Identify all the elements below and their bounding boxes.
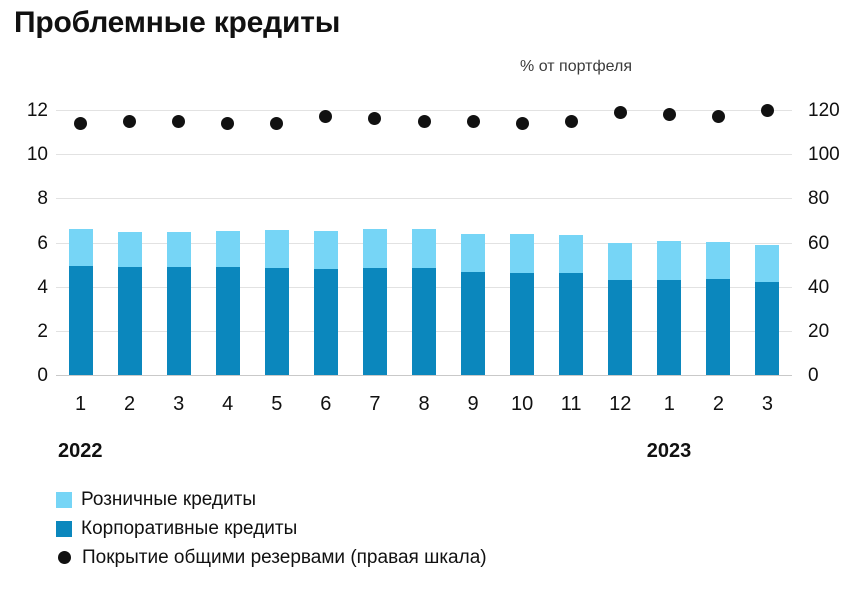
coverage-point [123, 115, 136, 128]
axis-tick-label: 12 [27, 101, 48, 120]
coverage-point [270, 117, 283, 130]
axis-baseline [56, 375, 792, 376]
x-axis-tick-label: 1 [61, 393, 101, 416]
coverage-point [418, 115, 431, 128]
x-axis-tick-label: 7 [355, 393, 395, 416]
coverage-dot-icon [58, 551, 71, 564]
x-axis-tick-label: 6 [306, 393, 346, 416]
x-axis-tick-label: 8 [404, 393, 444, 416]
axis-tick-label: 20 [808, 322, 829, 341]
y-axis-left: 024681012 [4, 110, 48, 375]
axis-tick-label: 100 [808, 145, 840, 164]
coverage-point [663, 108, 676, 121]
plot-area [56, 110, 792, 375]
x-axis-tick-label: 2 [698, 393, 738, 416]
coverage-point [368, 112, 381, 125]
coverage-point [172, 115, 185, 128]
x-axis-labels: 123456789101112123 [56, 393, 792, 423]
coverage-point [516, 117, 529, 130]
chart-page: Проблемные кредиты % от портфеля 0246810… [0, 0, 864, 606]
axis-tick-label: 10 [27, 145, 48, 164]
coverage-point [221, 117, 234, 130]
x-axis-year-label: 2023 [647, 440, 692, 463]
coverage-series [56, 110, 792, 375]
legend-label-retail: Розничные кредиты [81, 490, 256, 509]
x-axis-tick-label: 10 [502, 393, 542, 416]
legend-item-coverage: Покрытие общими резервами (правая шкала) [56, 543, 856, 572]
coverage-point [74, 117, 87, 130]
axis-tick-label: 60 [808, 234, 829, 253]
x-axis-tick-label: 12 [600, 393, 640, 416]
x-axis-tick-label: 2 [110, 393, 150, 416]
axis-tick-label: 4 [37, 278, 48, 297]
y-axis-right: 020406080100120 [808, 110, 852, 375]
legend-label-corporate: Корпоративные кредиты [81, 519, 297, 538]
axis-tick-label: 80 [808, 189, 829, 208]
axis-tick-label: 120 [808, 101, 840, 120]
legend-item-retail: Розничные кредиты [56, 485, 856, 514]
x-axis-year-label: 2022 [58, 440, 103, 463]
x-axis-tick-label: 3 [747, 393, 787, 416]
x-axis-tick-label: 1 [649, 393, 689, 416]
coverage-point [761, 104, 774, 117]
axis-tick-label: 0 [808, 366, 819, 385]
coverage-point [565, 115, 578, 128]
axis-tick-label: 6 [37, 234, 48, 253]
x-axis-tick-label: 4 [208, 393, 248, 416]
x-axis-tick-label: 3 [159, 393, 199, 416]
legend-item-corporate: Корпоративные кредиты [56, 514, 856, 543]
retail-swatch-icon [56, 492, 72, 508]
axis-tick-label: 2 [37, 322, 48, 341]
coverage-point [614, 106, 627, 119]
chart-subtitle: % от портфеля [0, 58, 632, 76]
coverage-point [467, 115, 480, 128]
page-title: Проблемные кредиты [14, 6, 340, 40]
axis-tick-label: 0 [37, 366, 48, 385]
x-axis-tick-label: 9 [453, 393, 493, 416]
chart-legend: Розничные кредиты Корпоративные кредиты … [56, 485, 856, 572]
axis-tick-label: 40 [808, 278, 829, 297]
x-axis-tick-label: 5 [257, 393, 297, 416]
axis-tick-label: 8 [37, 189, 48, 208]
coverage-point [319, 110, 332, 123]
x-axis-tick-label: 11 [551, 393, 591, 416]
coverage-point [712, 110, 725, 123]
corporate-swatch-icon [56, 521, 72, 537]
legend-label-coverage: Покрытие общими резервами (правая шкала) [82, 548, 487, 567]
x-axis-year-labels: 20222023 [56, 440, 792, 470]
